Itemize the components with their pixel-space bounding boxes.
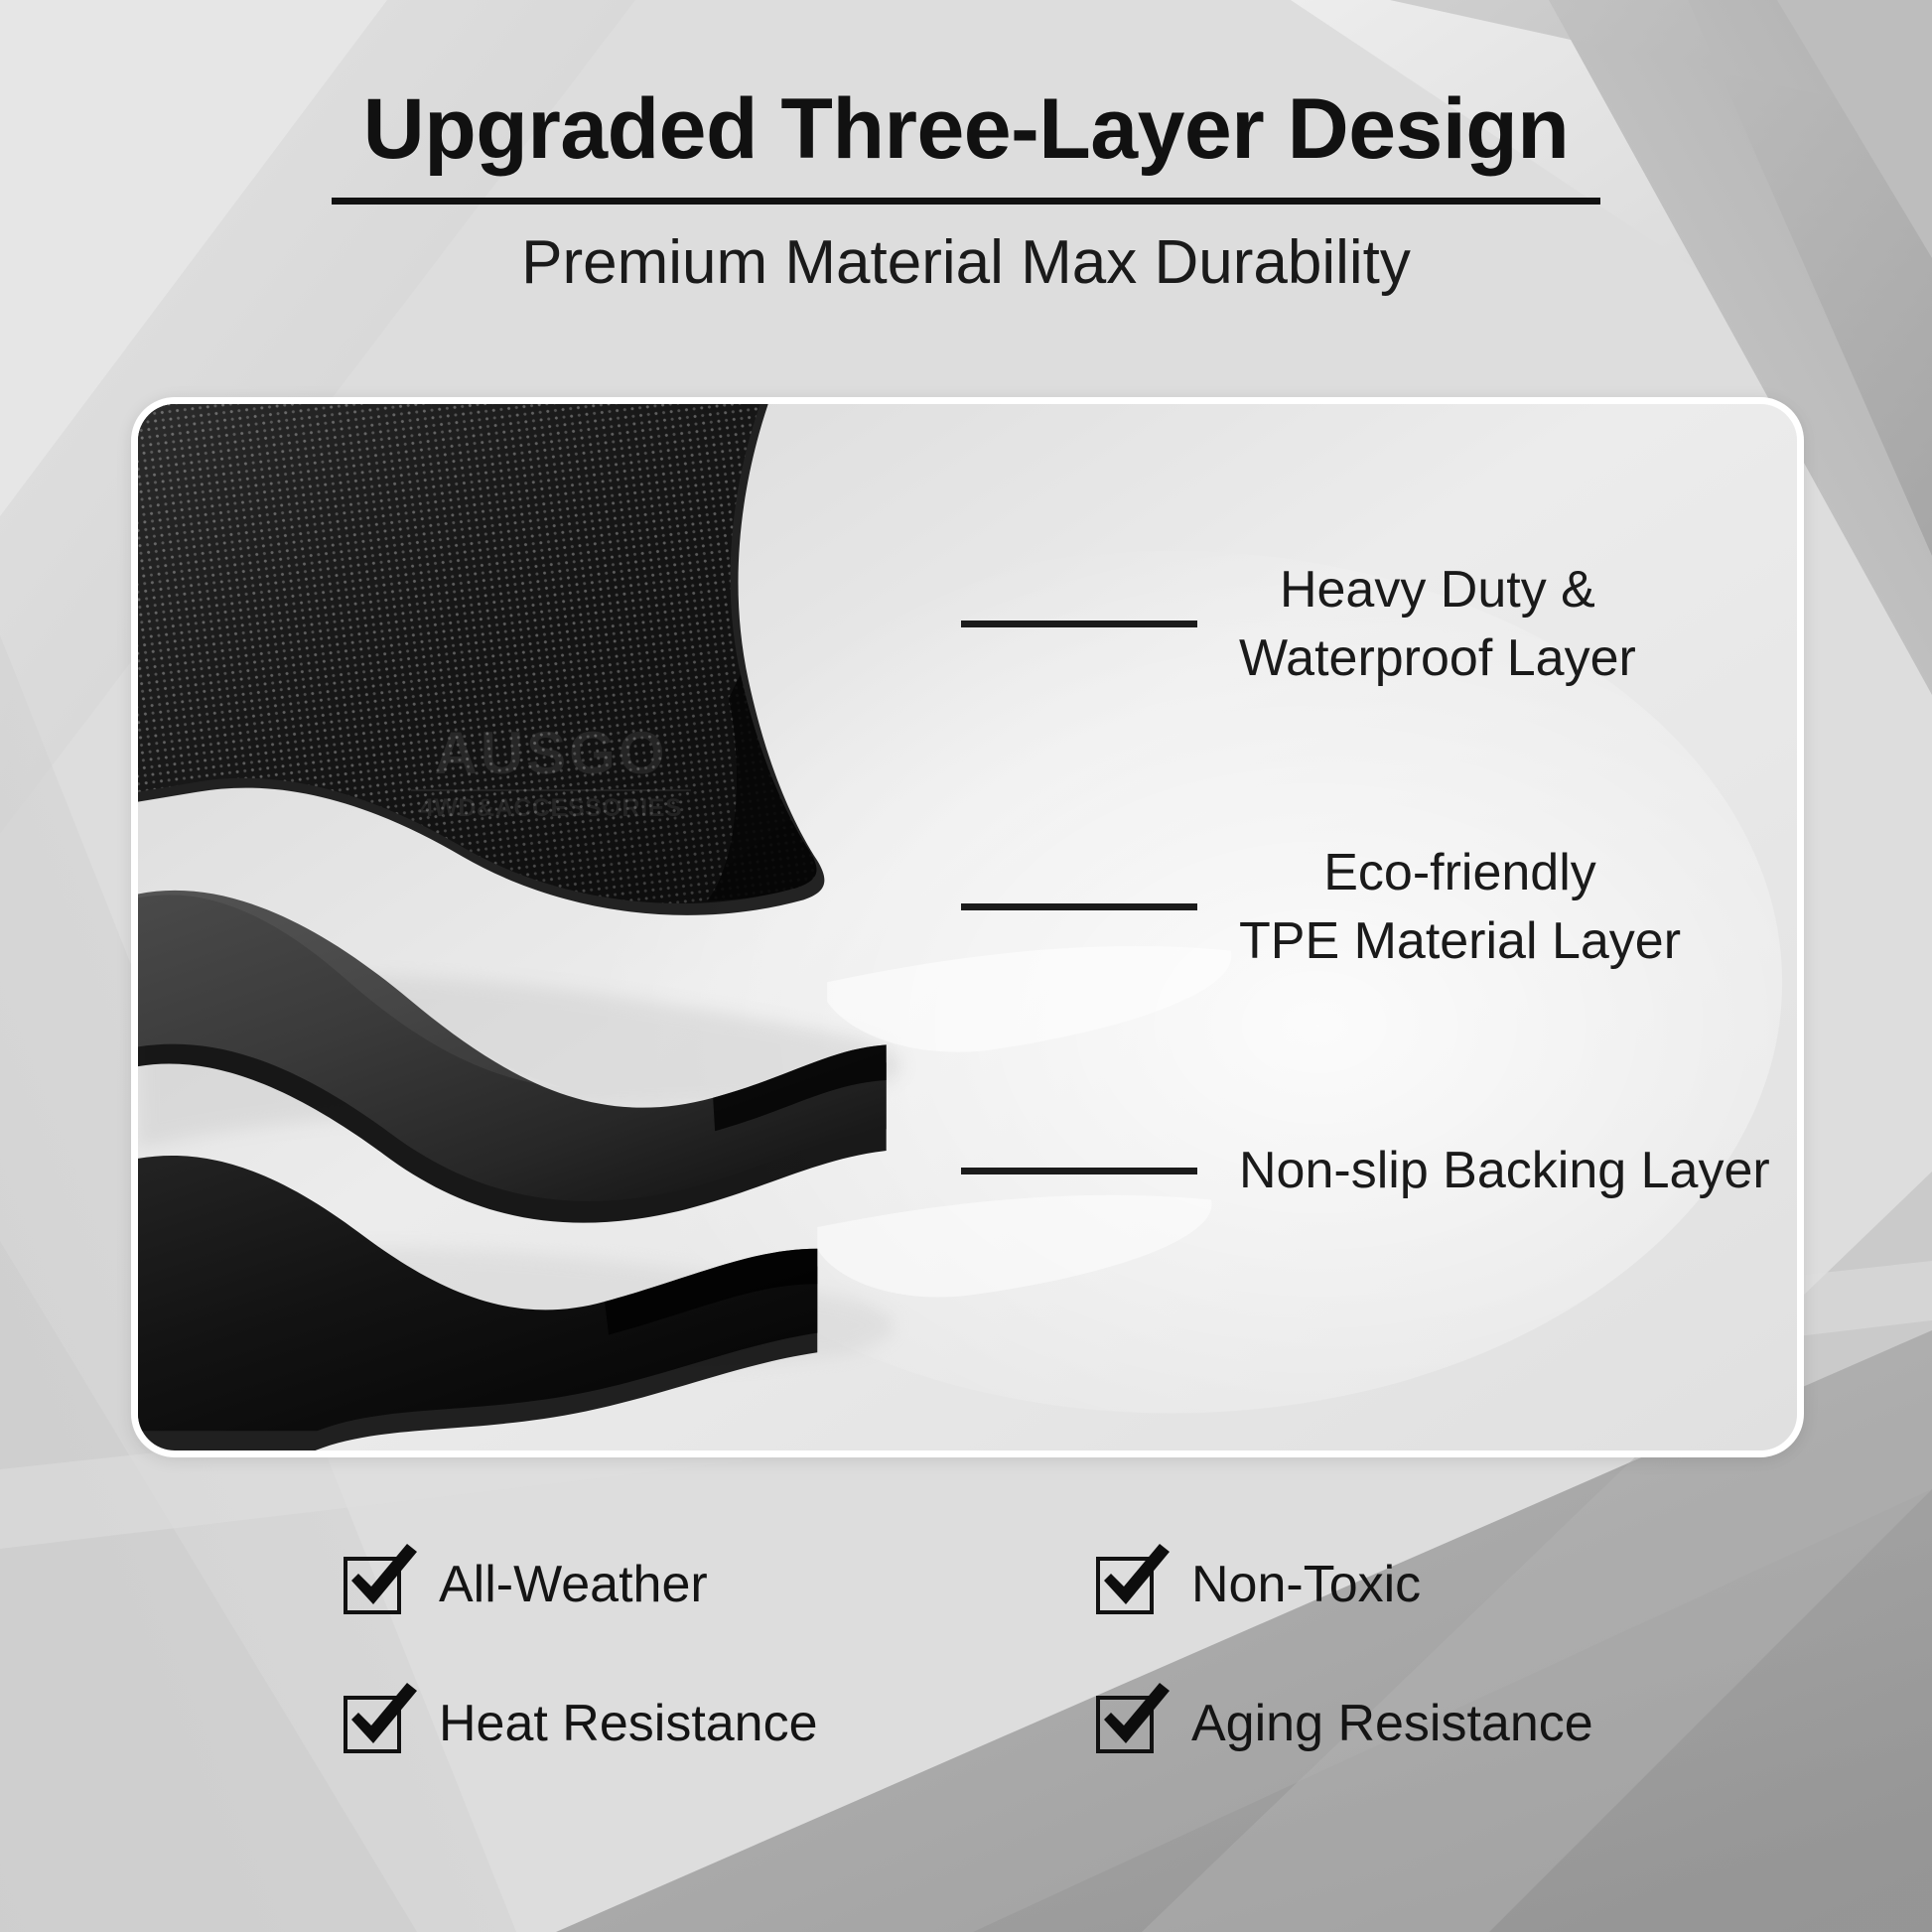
feature-aging-resistance[interactable]: Aging Resistance bbox=[1096, 1686, 1718, 1761]
callout-label: Heavy Duty & Waterproof Layer bbox=[1239, 556, 1636, 692]
check-icon bbox=[1094, 1541, 1175, 1622]
feature-label: All-Weather bbox=[439, 1559, 708, 1610]
callout-heavy-duty-waterproof-layer: Heavy Duty & Waterproof Layer bbox=[961, 556, 1636, 692]
feature-checklist: All-Weather Non-Toxic bbox=[344, 1547, 1664, 1761]
page-title: Upgraded Three-Layer Design bbox=[0, 0, 1932, 174]
checkbox-aging-resistance[interactable] bbox=[1096, 1686, 1164, 1761]
header: Upgraded Three-Layer Design Premium Mate… bbox=[0, 0, 1932, 297]
feature-label: Non-Toxic bbox=[1191, 1559, 1421, 1610]
feature-all-weather[interactable]: All-Weather bbox=[344, 1547, 965, 1622]
feature-label: Aging Resistance bbox=[1191, 1698, 1593, 1749]
callout-label: Non-slip Backing Layer bbox=[1239, 1137, 1770, 1205]
callout-non-slip-backing-layer: Non-slip Backing Layer bbox=[961, 1137, 1770, 1205]
check-icon bbox=[342, 1541, 423, 1622]
callout-leader-line bbox=[961, 903, 1197, 910]
feature-label: Heat Resistance bbox=[439, 1698, 818, 1749]
feature-row: All-Weather Non-Toxic bbox=[344, 1547, 1664, 1622]
check-icon bbox=[342, 1680, 423, 1761]
callout-label: Eco-friendly TPE Material Layer bbox=[1239, 839, 1681, 975]
callout-leader-line bbox=[961, 1168, 1197, 1174]
feature-row: Heat Resistance Aging Resistance bbox=[344, 1686, 1664, 1761]
product-infographic: Upgraded Three-Layer Design Premium Mate… bbox=[0, 0, 1932, 1932]
check-icon bbox=[1094, 1680, 1175, 1761]
callout-leader-line bbox=[961, 621, 1197, 627]
callout-eco-friendly-tpe-material-layer: Eco-friendly TPE Material Layer bbox=[961, 839, 1681, 975]
checkbox-all-weather[interactable] bbox=[344, 1547, 411, 1622]
checkbox-non-toxic[interactable] bbox=[1096, 1547, 1164, 1622]
feature-heat-resistance[interactable]: Heat Resistance bbox=[344, 1686, 965, 1761]
title-divider bbox=[332, 198, 1600, 205]
checkbox-heat-resistance[interactable] bbox=[344, 1686, 411, 1761]
page-subtitle: Premium Material Max Durability bbox=[0, 205, 1932, 297]
feature-non-toxic[interactable]: Non-Toxic bbox=[1096, 1547, 1718, 1622]
